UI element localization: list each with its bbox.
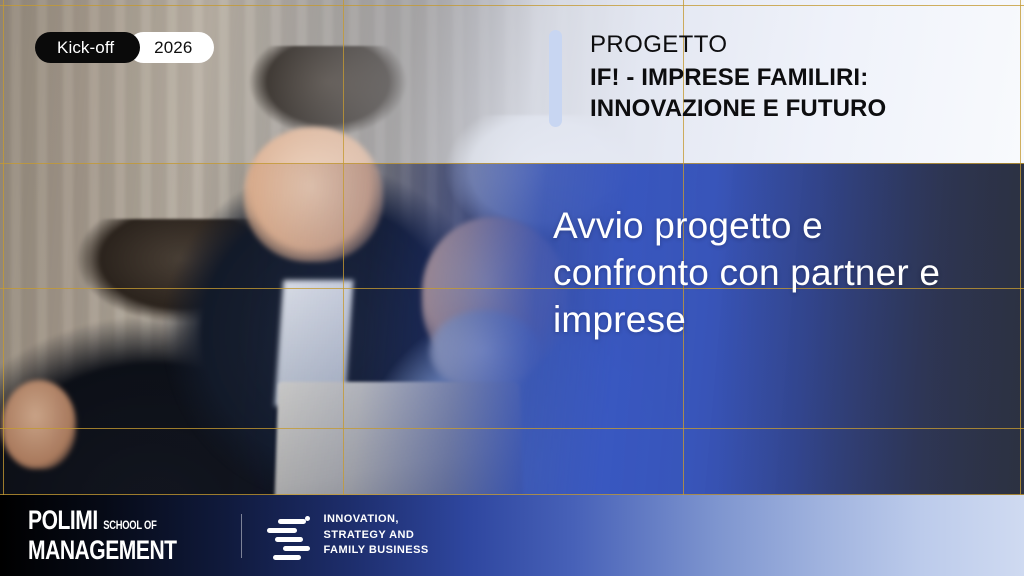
polimi-logo-line-1: POLIMI SCHOOL OF (28, 507, 177, 534)
bars-mark-bar-2 (267, 528, 297, 533)
polimi-wordmark: POLIMI (28, 507, 98, 534)
bars-mark-dot-icon (305, 516, 310, 521)
badge-kickoff[interactable]: Kick-off (35, 32, 140, 63)
bars-mark-bar-1 (278, 519, 306, 524)
project-title-text: PROGETTO IF! - IMPRESE FAMILIRI: INNOVAZ… (590, 30, 886, 125)
project-kicker: PROGETTO (590, 30, 886, 59)
footer-bar: POLIMI SCHOOL OF MANAGEMENT INNOVATION, … (0, 495, 1024, 576)
bars-mark-bar-4 (283, 546, 310, 551)
footer-content: POLIMI SCHOOL OF MANAGEMENT INNOVATION, … (28, 507, 429, 564)
slide-headline: Avvio progetto e confronto con partner e… (553, 203, 973, 344)
badge-group: Kick-off 2026 (35, 32, 214, 63)
polimi-management-label: MANAGEMENT (28, 537, 177, 564)
accent-bar (549, 30, 562, 127)
bars-mark-bar-3 (275, 537, 303, 542)
slide-canvas: Kick-off 2026 PROGETTO IF! - IMPRESE FAM… (0, 0, 1024, 576)
footer-divider (241, 514, 242, 558)
polimi-school-of-label: SCHOOL OF (103, 519, 156, 531)
polimi-som-logo: POLIMI SCHOOL OF MANAGEMENT (28, 507, 177, 564)
bars-mark-bar-5 (273, 555, 301, 560)
bars-mark-icon (264, 515, 310, 557)
project-title: IF! - IMPRESE FAMILIRI: INNOVAZIONE E FU… (590, 63, 886, 124)
isfb-label: INNOVATION, STRATEGY AND FAMILY BUSINESS (324, 512, 429, 560)
badge-year[interactable]: 2026 (128, 32, 214, 63)
project-title-block: PROGETTO IF! - IMPRESE FAMILIRI: INNOVAZ… (549, 30, 886, 127)
